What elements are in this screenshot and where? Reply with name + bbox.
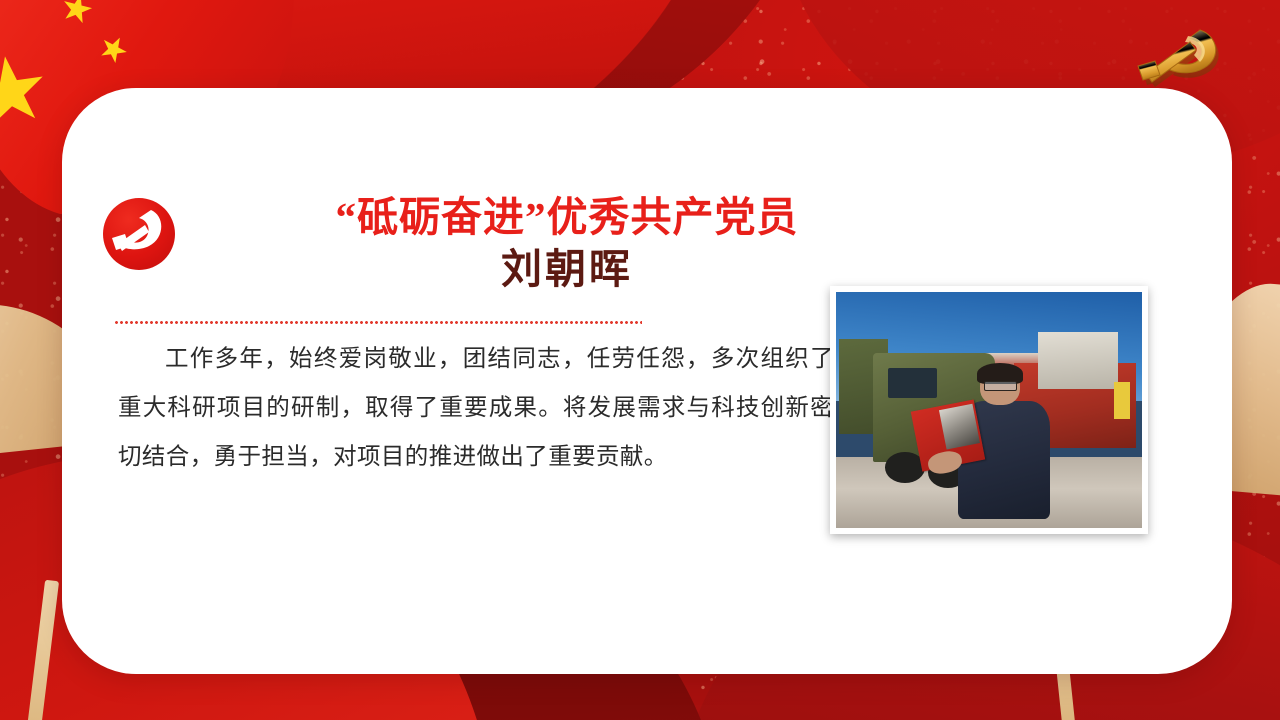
photo-image — [836, 292, 1142, 528]
photo-yellow-marker — [1114, 382, 1129, 420]
dotted-divider — [114, 321, 642, 324]
body-paragraph: 工作多年，始终爱岗敬业，团结同志，任劳任怨，多次组织了重大科研项目的研制，取得了… — [118, 334, 834, 481]
content-card: “砥砺奋进”优秀共产党员 刘朝晖 工作多年，始终爱岗敬业，团结同志，任劳任怨，多… — [62, 88, 1232, 674]
party-badge-icon — [103, 198, 175, 270]
person-name: 刘朝晖 — [202, 244, 932, 295]
photo-truck-window — [888, 368, 937, 399]
page-title: “砥砺奋进”优秀共产党员 — [202, 192, 932, 242]
photo-person-glasses — [984, 381, 1017, 391]
ccp-emblem-icon — [1130, 22, 1240, 98]
photo-trailer-box — [1038, 332, 1118, 389]
title-block: “砥砺奋进”优秀共产党员 刘朝晖 — [202, 192, 932, 295]
photo-book-cover-image — [939, 404, 980, 450]
slide-root: “砥砺奋进”优秀共产党员 刘朝晖 工作多年，始终爱岗敬业，团结同志，任劳任怨，多… — [0, 0, 1280, 720]
person-photo — [830, 286, 1148, 534]
